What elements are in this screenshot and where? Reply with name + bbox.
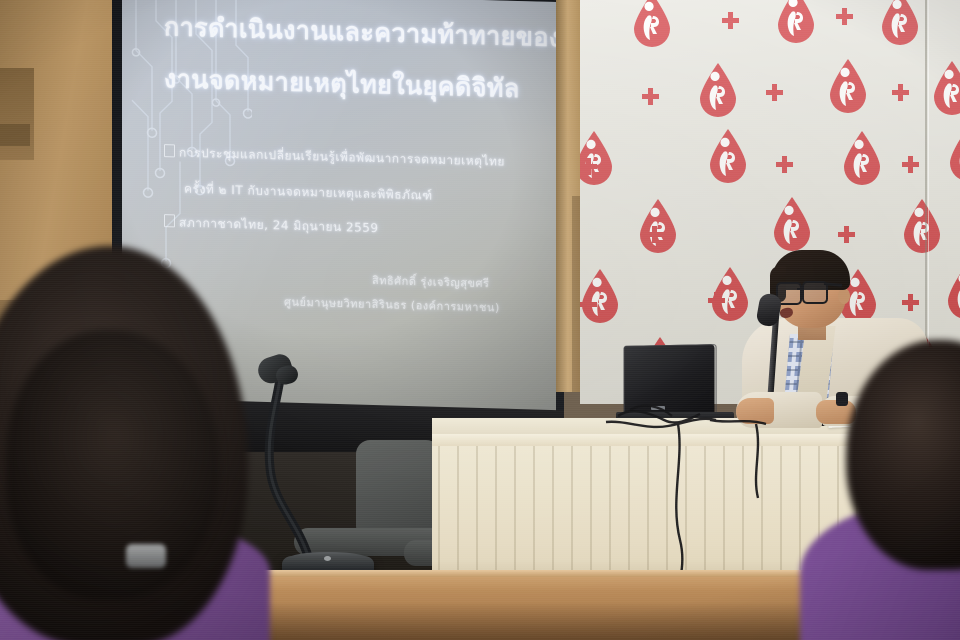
foreground-attendee-left-hairclip <box>126 544 166 568</box>
wall-niche <box>0 68 34 160</box>
speaker-wristwatch <box>836 392 848 406</box>
glasses-bridge <box>797 288 804 290</box>
speaker-ear <box>838 288 850 304</box>
office-chair-back <box>356 440 442 536</box>
front-microphone-gooseneck <box>262 360 332 560</box>
conference-photo: การดำเนินงานและความท้าทายของ งานจดหมายเห… <box>0 0 960 640</box>
wall-niche-shadow <box>0 124 30 146</box>
front-microphone-indicator <box>324 556 331 561</box>
foreground-attendee-left-hair-lower <box>6 330 220 600</box>
